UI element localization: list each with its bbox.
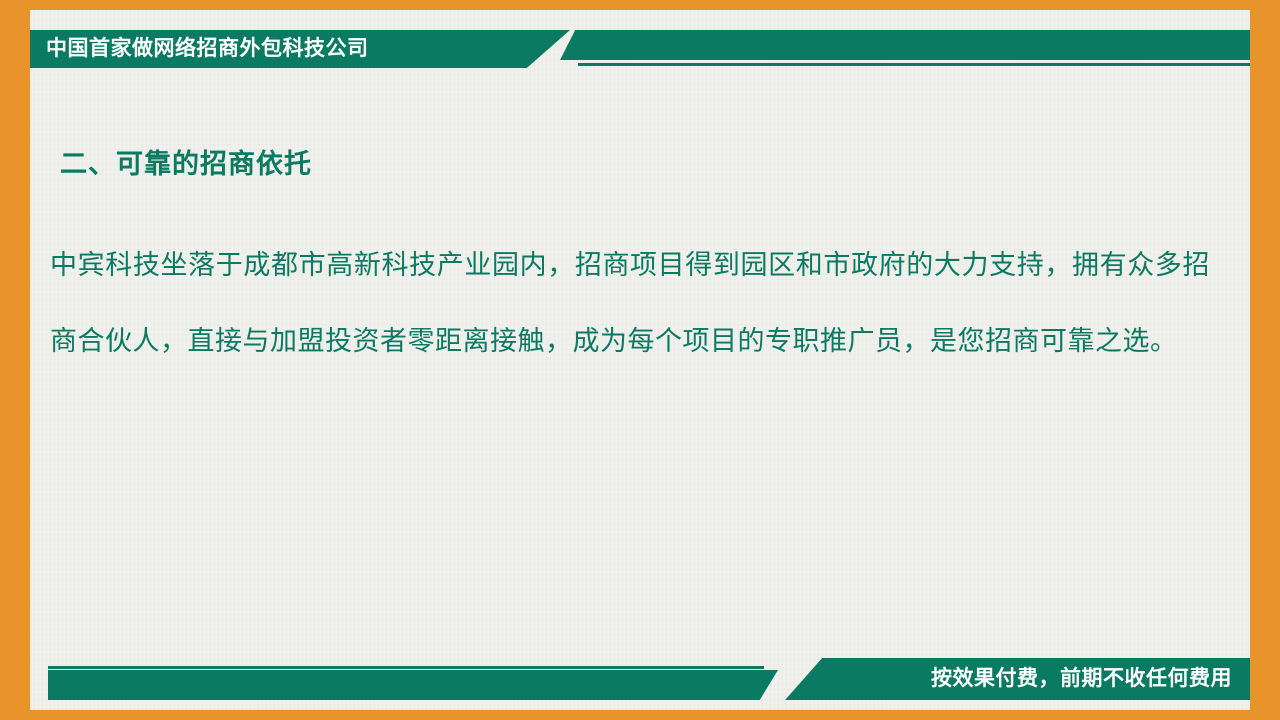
footer-banner-left-shape: [48, 670, 778, 700]
body-paragraph: 中宾科技坐落于成都市高新科技产业园内，招商项目得到园区和市政府的大力支持，拥有众…: [50, 228, 1210, 380]
header-banner-right-shape: [560, 30, 1250, 60]
footer-banner-overline: [48, 666, 764, 669]
slide-root: 中国首家做网络招商外包科技公司 二、可靠的招商依托 中宾科技坐落于成都市高新科技…: [0, 0, 1280, 720]
header-title: 中国首家做网络招商外包科技公司: [46, 30, 369, 68]
header-banner-underline: [578, 63, 1250, 66]
footer-banner: 按效果付费，前期不收任何费用: [30, 658, 1250, 700]
footer-slogan: 按效果付费，前期不收任何费用: [931, 658, 1232, 700]
section-heading: 二、可靠的招商依托: [60, 142, 312, 181]
slide-canvas: 中国首家做网络招商外包科技公司 二、可靠的招商依托 中宾科技坐落于成都市高新科技…: [30, 10, 1250, 710]
header-banner: 中国首家做网络招商外包科技公司: [30, 30, 1250, 68]
